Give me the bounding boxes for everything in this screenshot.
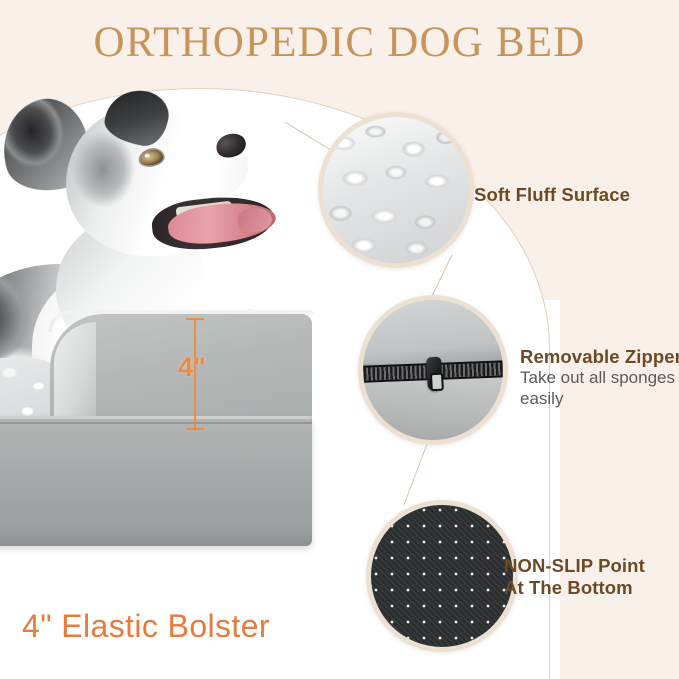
callout-heading-non-slip-line1: NON-SLIP Point	[504, 555, 645, 577]
callout-subtext-removable-zipper: Take out all sponges easily	[520, 368, 679, 409]
zipper-fabric-top	[363, 300, 503, 364]
dimension-label: 4"	[178, 352, 206, 383]
callout-heading-removable-zipper: Removable Zipper	[520, 346, 679, 368]
infographic-canvas: ORTHOPEDIC DOG BED 4	[0, 0, 679, 679]
bed-piping-trim	[48, 310, 314, 332]
callout-image-soft-fluff	[318, 112, 474, 268]
bed-seam	[0, 422, 312, 424]
callout-heading-non-slip-line2: At The Bottom	[504, 577, 645, 599]
bolster-caption: 4" Elastic Bolster	[22, 608, 270, 645]
callout-image-non-slip	[366, 500, 518, 652]
dimension-cap-bottom	[186, 428, 204, 430]
product-photo: 4"	[0, 96, 352, 616]
bed-base	[0, 416, 312, 546]
callout-heading-soft-fluff: Soft Fluff Surface	[474, 184, 630, 206]
callout-label-non-slip: NON-SLIP Point At The Bottom	[504, 555, 645, 599]
zipper-pull-icon	[427, 357, 444, 392]
callout-label-removable-zipper: Removable Zipper Take out all sponges ea…	[520, 346, 679, 409]
page-title: ORTHOPEDIC DOG BED	[0, 18, 679, 67]
dimension-cap-top	[186, 318, 204, 320]
callout-image-removable-zipper	[358, 295, 508, 445]
callout-label-soft-fluff: Soft Fluff Surface	[474, 184, 630, 206]
